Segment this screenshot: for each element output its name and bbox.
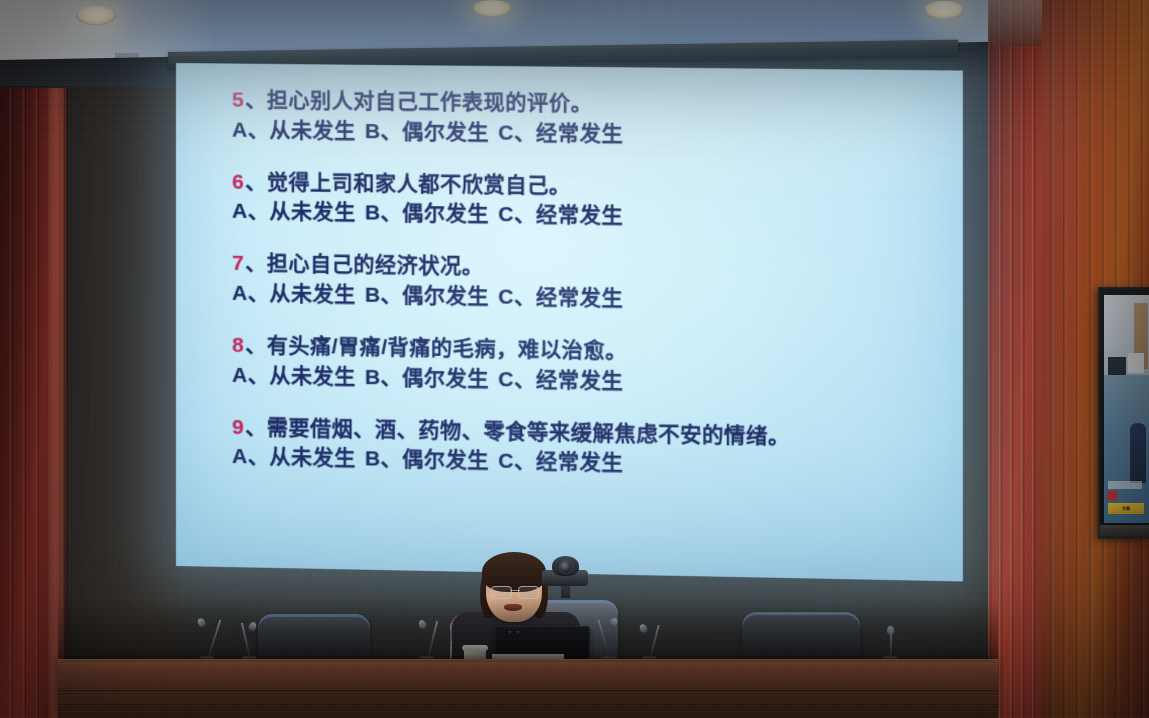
right-wood-pillar (988, 0, 1042, 718)
video-caption-badge: 字幕 (1108, 503, 1144, 514)
option-c: C、经常发生 (498, 368, 623, 393)
question-block: 6、觉得上司和家人都不欣赏自己。 A、从未发生B、偶尔发生C、经常发生 (232, 167, 943, 236)
question-block: 8、有头痛/胃痛/背痛的毛病，难以治愈。 A、从未发生B、偶尔发生C、经常发生 (232, 331, 943, 402)
microphone-head-icon (247, 621, 257, 632)
wall-display-screen: 字幕 (1104, 295, 1149, 523)
video-feed-person (1130, 423, 1146, 483)
video-feed-marker (1107, 491, 1117, 500)
option-a: A、从未发生 (232, 200, 356, 225)
question-separator: 、 (245, 252, 267, 275)
microphone-head-icon (417, 619, 427, 630)
presenter-mouth (504, 604, 522, 611)
dais-groove (58, 690, 998, 694)
ptz-camera-stem (561, 584, 570, 598)
question-text: 担心别人对自己工作表现的评价。 (267, 89, 593, 115)
glasses-lens-left (491, 586, 512, 599)
question-number: 5 (232, 89, 244, 112)
question-number: 9 (232, 415, 244, 438)
laptop-indicator (509, 631, 511, 633)
question-number: 7 (232, 252, 244, 275)
option-c: C、经常发生 (498, 203, 623, 228)
question-text: 担心自己的经济状况。 (267, 252, 484, 278)
option-c: C、经常发生 (498, 121, 623, 146)
question-block: 9、需要借烟、酒、药物、零食等来缓解焦虑不安的情绪。 A、从未发生B、偶尔发生C… (232, 412, 943, 484)
option-b: B、偶尔发生 (365, 284, 489, 309)
option-b: B、偶尔发生 (365, 120, 489, 144)
mic-3 (418, 620, 436, 664)
wall-mounted-display[interactable]: 字幕 (1098, 287, 1149, 539)
option-c: C、经常发生 (498, 450, 623, 475)
projection-screen: 5、担心别人对自己工作表现的评价。 A、从未发生B、偶尔发生C、经常发生 6、觉… (176, 63, 963, 581)
question-block: 5、担心别人对自己工作表现的评价。 A、从未发生B、偶尔发生C、经常发生 (232, 86, 943, 154)
question-text: 需要借烟、酒、药物、零食等来缓解焦虑不安的情绪。 (267, 416, 790, 448)
question-separator: 、 (245, 170, 267, 193)
video-feed-object (1128, 353, 1144, 373)
microphone-head-icon (638, 623, 648, 634)
mic-1 (198, 618, 216, 664)
video-feed-object (1108, 357, 1126, 375)
downlight-icon (472, 0, 512, 17)
microphone-head-icon (196, 617, 207, 628)
option-b: B、偶尔发生 (365, 366, 489, 391)
microphone-head-icon (608, 617, 619, 628)
chair-right (742, 612, 860, 666)
option-a: A、从未发生 (232, 118, 356, 142)
mic-2 (240, 622, 258, 664)
question-number: 6 (232, 170, 244, 193)
video-feed-overlay-bar (1108, 481, 1142, 489)
question-separator: 、 (245, 334, 267, 357)
glasses-lens-right (518, 586, 539, 599)
question-separator: 、 (245, 416, 267, 439)
question-separator: 、 (245, 89, 267, 112)
slide-content: 5、担心别人对自己工作表现的评价。 A、从未发生B、偶尔发生C、经常发生 6、觉… (232, 86, 943, 508)
mic-4 (600, 618, 618, 664)
glasses-icon (491, 586, 539, 597)
microphone-stem (890, 626, 892, 658)
option-a: A、从未发生 (232, 282, 356, 307)
display-bottom-bezel (1100, 525, 1149, 537)
downlight-icon (924, 1, 964, 19)
question-text: 有头痛/胃痛/背痛的毛病，难以治愈。 (267, 334, 627, 363)
dais-groove-lower (58, 704, 998, 707)
option-c: C、经常发生 (498, 286, 623, 311)
laptop-indicator (517, 631, 519, 633)
water-cup-lid (462, 645, 488, 651)
option-b: B、偶尔发生 (365, 202, 489, 227)
right-pillar-capital (988, 0, 1042, 46)
left-pillar-edge-highlight (50, 88, 68, 718)
options-line: A、从未发生B、偶尔发生C、经常发生 (232, 115, 943, 153)
question-text: 觉得上司和家人都不欣赏自己。 (267, 171, 571, 198)
downlight-icon (76, 6, 116, 25)
option-b: B、偶尔发生 (365, 448, 489, 473)
question-number: 8 (232, 334, 244, 357)
conference-hall-scene: 5、担心别人对自己工作表现的评价。 A、从未发生B、偶尔发生C、经常发生 6、觉… (0, 0, 1149, 718)
camera-lens-icon (560, 561, 572, 573)
option-a: A、从未发生 (232, 364, 356, 389)
video-caption-badge-text: 字幕 (1122, 506, 1130, 512)
option-a: A、从未发生 (232, 445, 356, 470)
mic-5 (640, 624, 658, 664)
question-block: 7、担心自己的经济状况。 A、从未发生B、偶尔发生C、经常发生 (232, 249, 943, 319)
